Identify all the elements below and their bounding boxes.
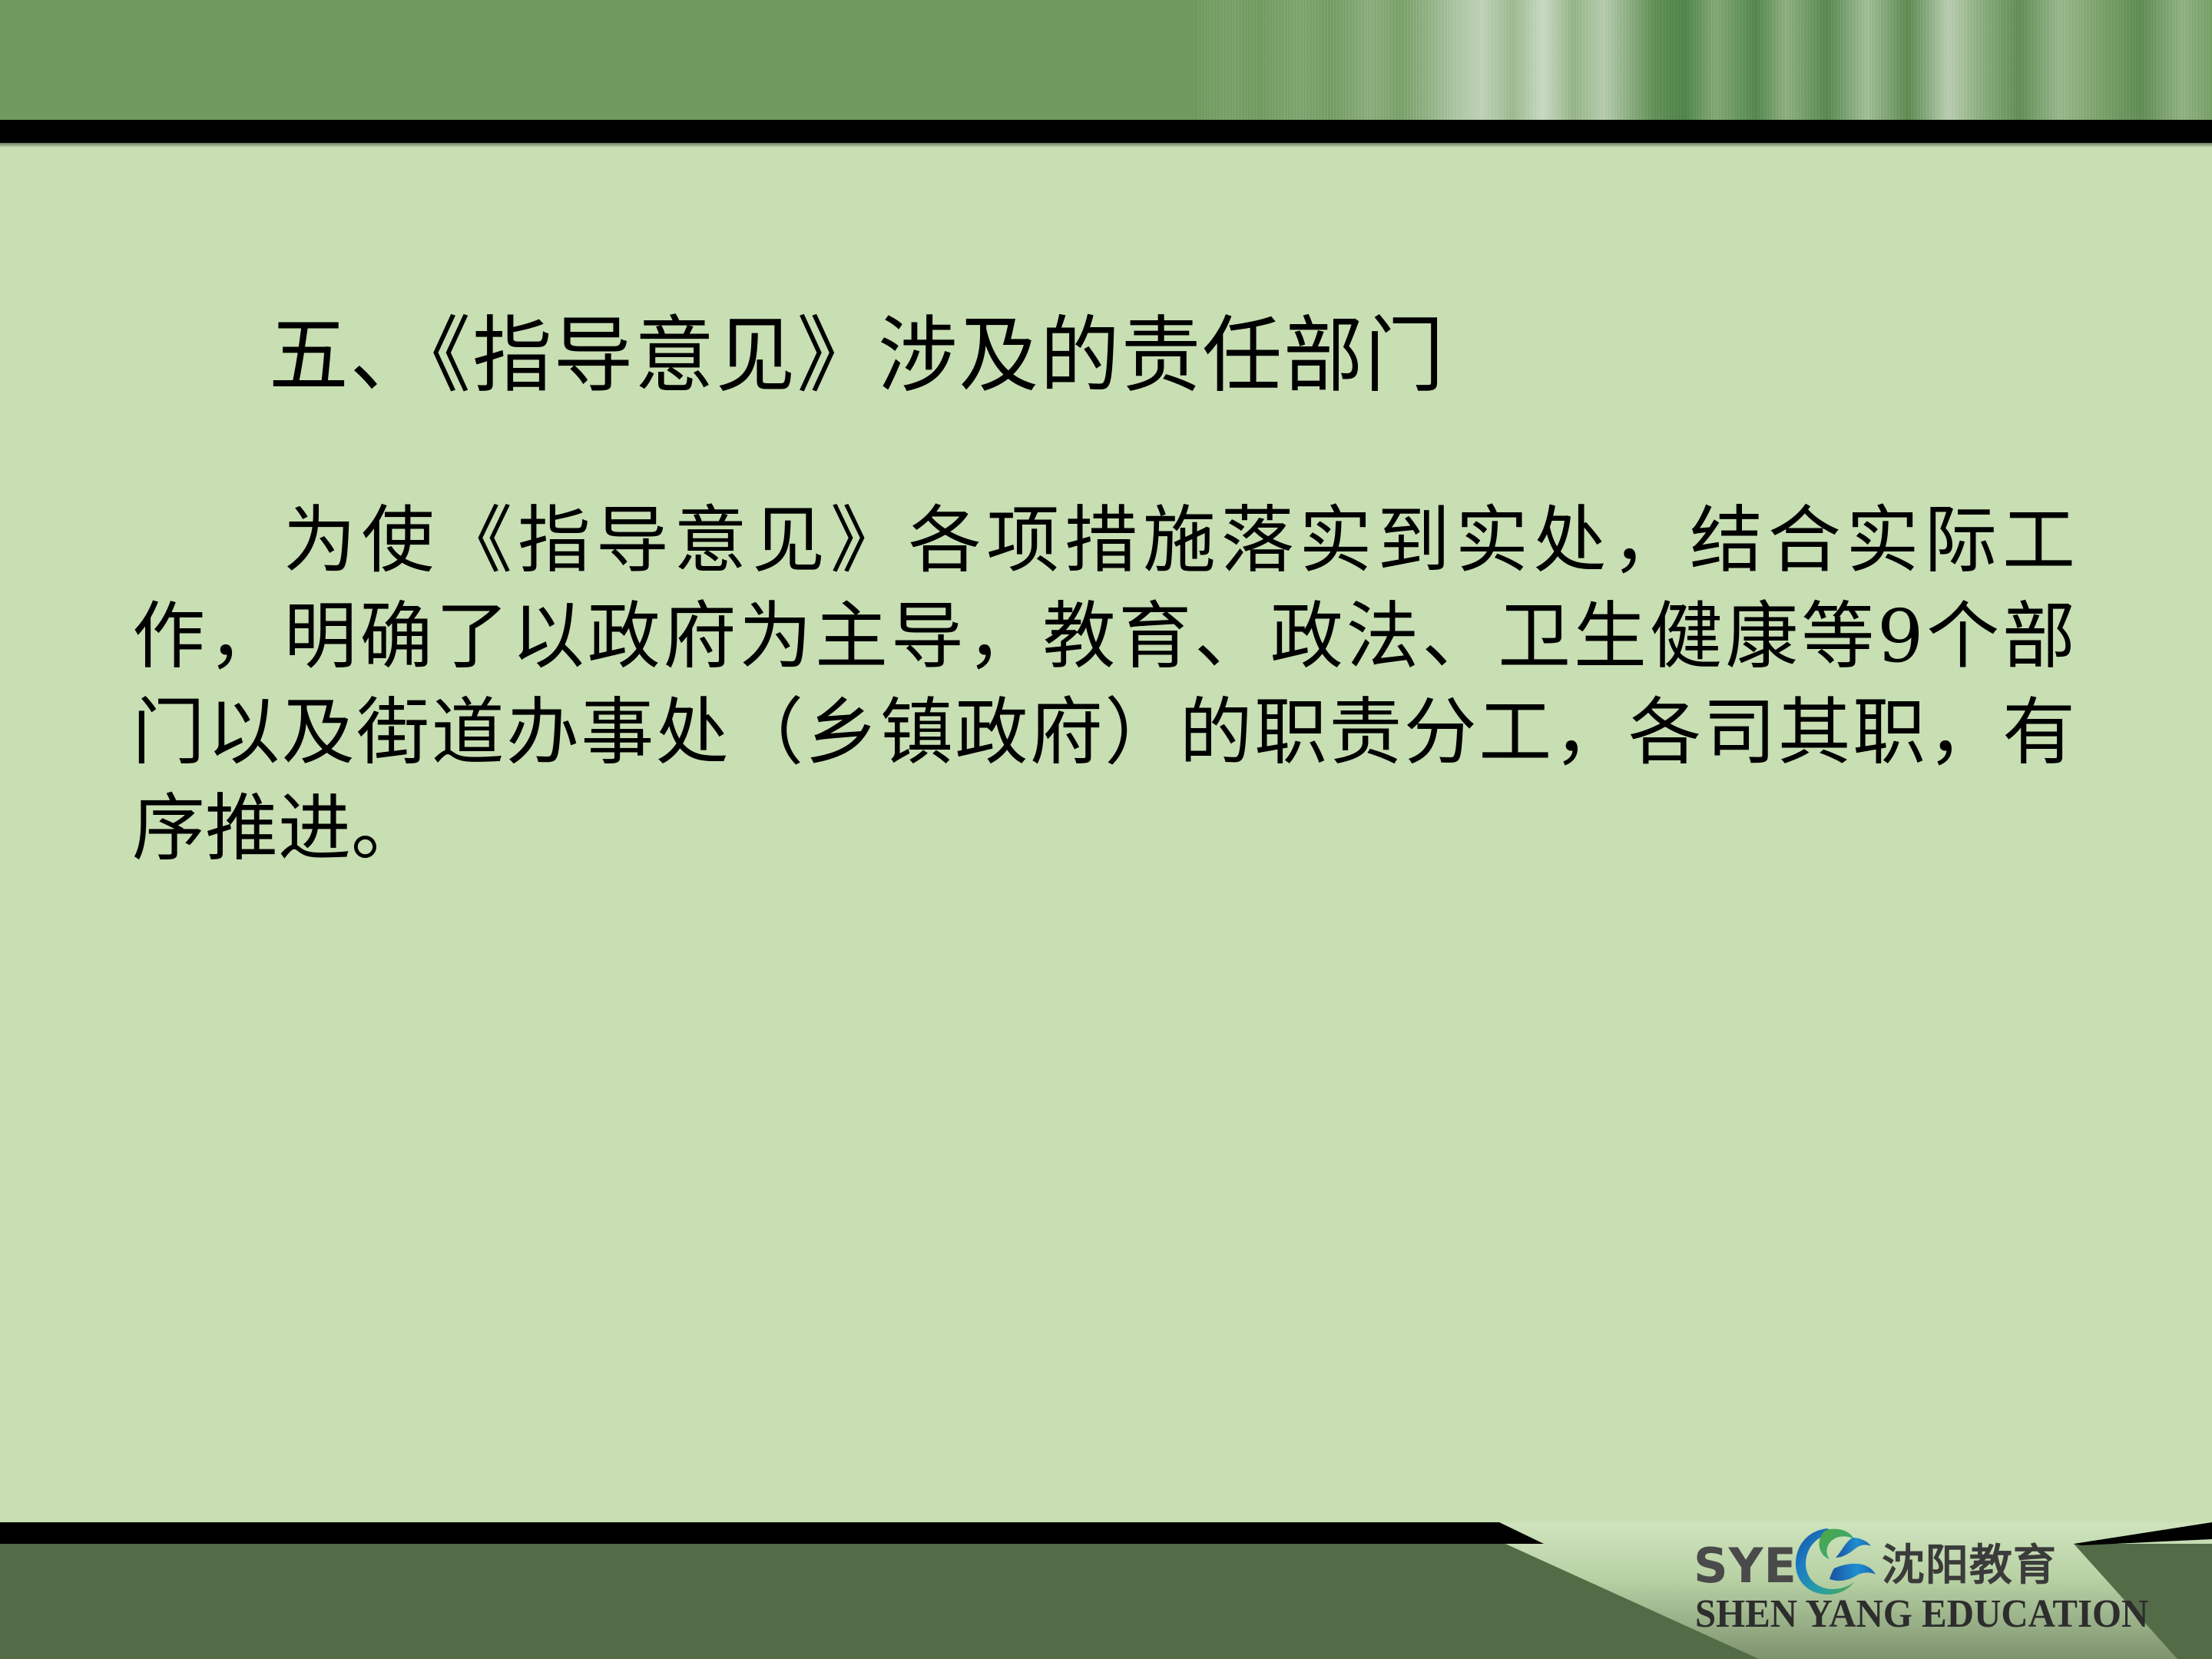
logo-abbreviation: SYE <box>1694 1542 1797 1590</box>
top-banner <box>0 0 2212 120</box>
body-paragraph: 为使《指导意见》各项措施落实到实处，结合实际工作，明确了以政府为主导，教育、政法… <box>132 493 2075 877</box>
logo-english-name: SHEN YANG EDUCATION <box>1695 1594 2148 1634</box>
top-black-rule <box>0 120 2212 143</box>
page-title: 五、《指导意见》涉及的责任部门 <box>269 309 1891 404</box>
sye-logo[interactable]: SYE <box>1694 1535 2124 1650</box>
sye-swoosh-mark-icon <box>1797 1536 1877 1596</box>
slide-content: 五、《指导意见》涉及的责任部门 为使《指导意见》各项措施落实到实处，结合实际工作… <box>0 147 2212 1522</box>
paragraph-text: 为使《指导意见》各项措施落实到实处，结合实际工作，明确了以政府为主导，教育、政法… <box>132 498 2075 871</box>
logo-chinese-name: 沈阳教育 <box>1882 1545 2057 1588</box>
presentation-slide: 五、《指导意见》涉及的责任部门 为使《指导意见》各项措施落实到实处，结合实际工作… <box>0 0 2212 1659</box>
logo-primary-row: SYE <box>1694 1535 2057 1598</box>
top-banner-texture <box>1198 0 2212 120</box>
